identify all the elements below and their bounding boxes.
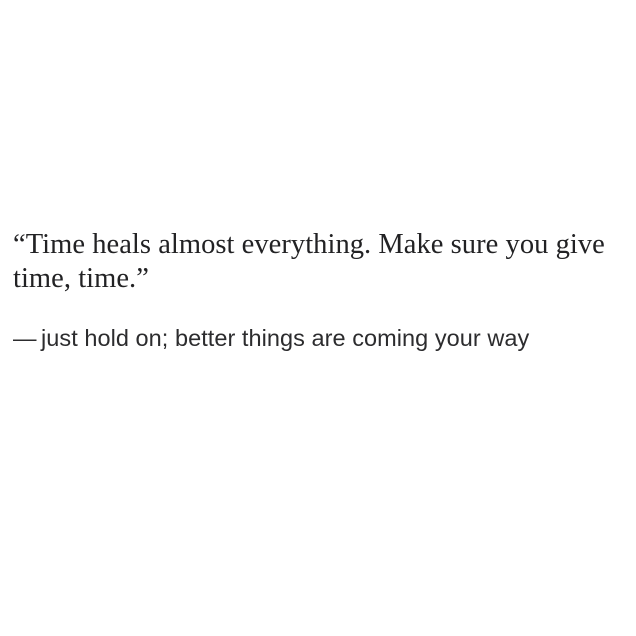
quote-text: “Time heals almost everything. Make sure…: [13, 228, 625, 295]
quote-card: “Time heals almost everything. Make sure…: [0, 0, 636, 636]
em-dash-icon: —: [13, 322, 41, 355]
image-canvas: “Time heals almost everything. Make sure…: [0, 0, 636, 636]
attribution-text: just hold on; better things are coming y…: [41, 322, 529, 355]
attribution: — just hold on; better things are coming…: [13, 322, 529, 355]
